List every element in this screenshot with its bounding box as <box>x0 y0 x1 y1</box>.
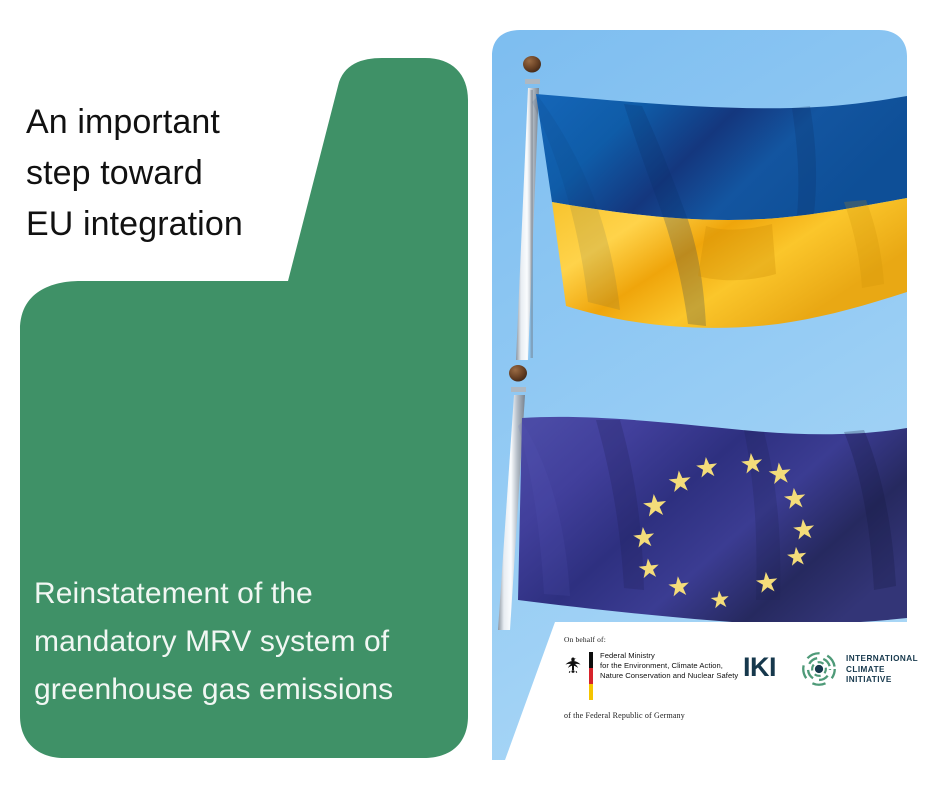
german-eagle-icon <box>563 654 583 674</box>
subtitle-line-3: greenhouse gas emissions <box>34 666 454 714</box>
iki-tagline-line-3: INITIATIVE <box>846 675 918 686</box>
ministry-line-3: Nature Conservation and Nuclear Safety <box>600 671 738 681</box>
page-title: An important step toward EU integration <box>26 97 326 250</box>
ministry-line-2: for the Environment, Climate Action, <box>600 661 738 671</box>
slide-canvas: An important step toward EU integration … <box>0 0 940 788</box>
heading-line-3: EU integration <box>26 199 326 250</box>
ministry-line-1: Federal Ministry <box>600 651 738 661</box>
iki-tagline: INTERNATIONAL CLIMATE INITIATIVE <box>846 654 918 686</box>
german-federal-ministry-logo: Federal Ministry for the Environment, Cl… <box>563 650 763 702</box>
german-flag-bar <box>589 652 593 700</box>
ministry-name-text: Federal Ministry for the Environment, Cl… <box>600 651 738 682</box>
subtitle: Reinstatement of the mandatory MRV syste… <box>34 570 454 714</box>
on-behalf-of-label: On behalf of: <box>564 635 606 644</box>
iki-circular-mark-icon <box>801 651 837 687</box>
iki-tagline-line-2: CLIMATE <box>846 665 918 676</box>
subtitle-line-1: Reinstatement of the <box>34 570 454 618</box>
heading-line-2: step toward <box>26 148 326 199</box>
iki-tagline-line-1: INTERNATIONAL <box>846 654 918 665</box>
subtitle-line-2: mandatory MRV system of <box>34 618 454 666</box>
footer-logo-band: On behalf of: Federal Ministry for the E… <box>555 620 940 760</box>
iki-logo: IKI INTERNATIONAL CLIMATE INITIATIVE <box>743 650 938 696</box>
of-the-federal-republic-label: of the Federal Republic of Germany <box>564 711 685 720</box>
heading-line-1: An important <box>26 97 326 148</box>
iki-wordmark: IKI <box>743 654 776 681</box>
